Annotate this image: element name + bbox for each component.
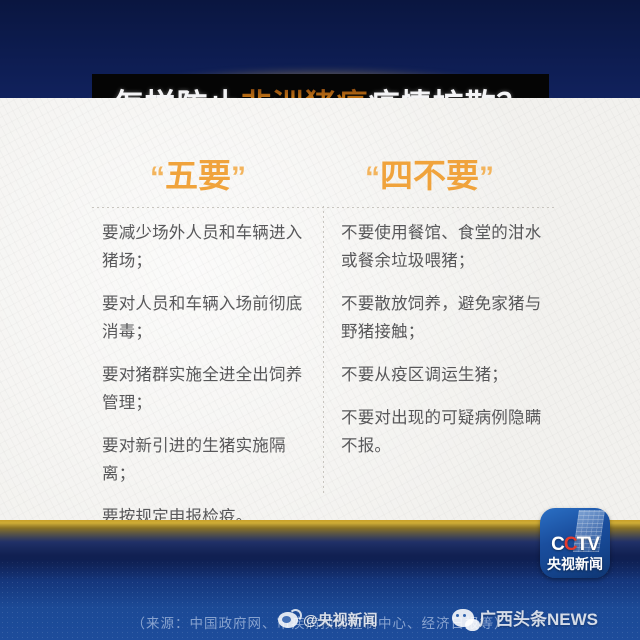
cctv-news-badge: CCTV 央视新闻 bbox=[540, 508, 610, 578]
cctv-logo: CCTV bbox=[540, 534, 610, 556]
list-item: 要减少场外人员和车辆进入猪场； bbox=[102, 219, 314, 275]
weibo-watermark: @央视新闻 bbox=[278, 609, 378, 630]
heading-four-must-nots: “四不要” bbox=[365, 150, 494, 204]
open-quote-icon: “ bbox=[150, 161, 165, 194]
list-column-right: 不要使用餐馆、食堂的泔水或餐余垃圾喂猪； 不要散放饲养，避免家猪与野猪接触； 不… bbox=[341, 219, 551, 475]
list-item: 不要从疫区调运生猪； bbox=[341, 361, 551, 389]
list-column-left: 要减少场外人员和车辆进入猪场； 要对人员和车辆入场前彻底消毒； 要对猪群实施全进… bbox=[102, 219, 314, 546]
horizontal-divider bbox=[92, 207, 556, 208]
cctv-logo-c1: C bbox=[551, 534, 564, 555]
list-item: 不要使用餐馆、食堂的泔水或餐余垃圾喂猪； bbox=[341, 219, 551, 275]
heading-right-label: 四不要 bbox=[380, 157, 479, 194]
column-headings: “五要” “四不要” bbox=[0, 150, 640, 206]
cctv-logo-c2: C bbox=[564, 534, 577, 555]
wechat-watermark: 广西头条NEWS bbox=[452, 605, 598, 630]
open-quote-icon: “ bbox=[365, 161, 380, 194]
cctv-logo-tv: TV bbox=[577, 534, 599, 555]
heading-five-musts: “五要” bbox=[150, 150, 246, 204]
list-item: 不要对出现的可疑病例隐瞒不报。 bbox=[341, 404, 551, 460]
list-item: 要对新引进的生猪实施隔离； bbox=[102, 432, 314, 488]
close-quote-icon: ” bbox=[479, 161, 494, 194]
cctv-badge-name: 央视新闻 bbox=[540, 554, 610, 574]
wechat-icon bbox=[452, 609, 474, 627]
list-item: 要对人员和车辆入场前彻底消毒； bbox=[102, 290, 314, 346]
list-item: 不要散放饲养，避免家猪与野猪接触； bbox=[341, 290, 551, 346]
list-item: 要对猪群实施全进全出饲养管理； bbox=[102, 361, 314, 417]
infographic-canvas: 怎样防止非洲猪瘟疫情扩散？ “五要” “四不要” 要减少场外人员和车辆进入猪场；… bbox=[0, 0, 640, 640]
close-quote-icon: ” bbox=[231, 161, 246, 194]
wechat-handle: 广西头条NEWS bbox=[479, 605, 598, 630]
weibo-handle: @央视新闻 bbox=[303, 609, 378, 630]
weibo-icon bbox=[278, 612, 298, 628]
heading-left-label: 五要 bbox=[165, 157, 231, 194]
vertical-divider bbox=[323, 206, 324, 496]
